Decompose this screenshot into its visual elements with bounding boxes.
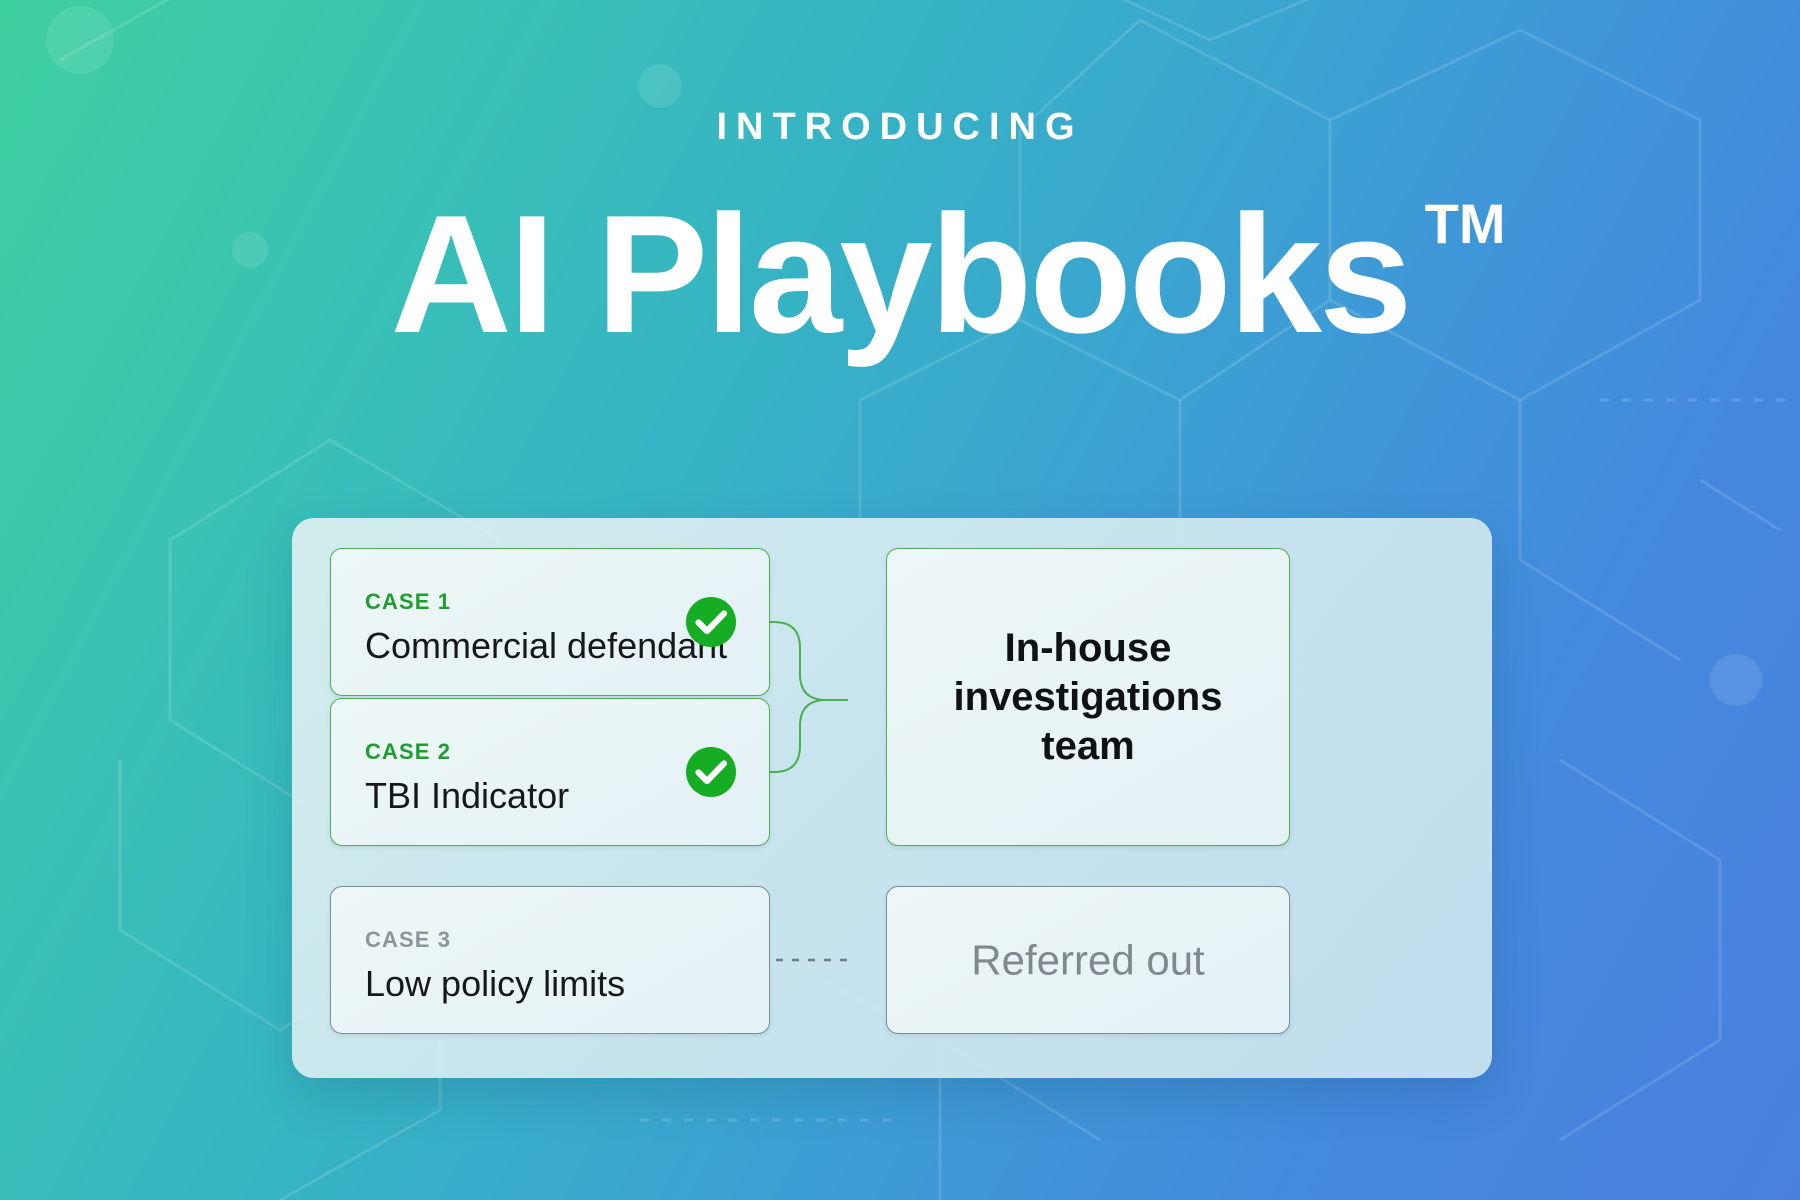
case-label-3: CASE 3	[365, 929, 451, 951]
case-title-1: Commercial defendant	[365, 623, 727, 668]
kicker-text: INTRODUCING	[0, 108, 1800, 146]
outcome-title-in-house-team: In-house investigations team	[887, 624, 1289, 770]
case-card-2[interactable]: CASE 2 TBI Indicator	[330, 698, 770, 846]
case-title-3: Low policy limits	[365, 961, 625, 1006]
case-card-1[interactable]: CASE 1 Commercial defendant	[330, 548, 770, 696]
product-wordmark: AI Playbooks TM	[390, 190, 1409, 358]
check-circle-icon	[685, 596, 737, 648]
product-name: AI Playbooks	[390, 180, 1409, 368]
case-title-2: TBI Indicator	[365, 773, 569, 818]
case-label-1: CASE 1	[365, 591, 451, 613]
case-label-2: CASE 2	[365, 741, 451, 763]
trademark-symbol: TM	[1425, 196, 1506, 252]
flow-diagram: CASE 1 Commercial defendant CASE 2 TBI I…	[292, 518, 1492, 1078]
hero-heading-block: INTRODUCING AI Playbooks TM	[0, 0, 1800, 358]
outcome-card-referred-out[interactable]: Referred out	[886, 886, 1290, 1034]
case-card-3[interactable]: CASE 3 Low policy limits	[330, 886, 770, 1034]
outcome-title-referred-out: Referred out	[887, 934, 1289, 985]
promo-graphic: INTRODUCING AI Playbooks TM CASE 1 Comme…	[0, 0, 1800, 1200]
playbook-flow-panel: CASE 1 Commercial defendant CASE 2 TBI I…	[292, 518, 1492, 1078]
outcome-card-in-house-team[interactable]: In-house investigations team	[886, 548, 1290, 846]
check-circle-icon	[685, 746, 737, 798]
